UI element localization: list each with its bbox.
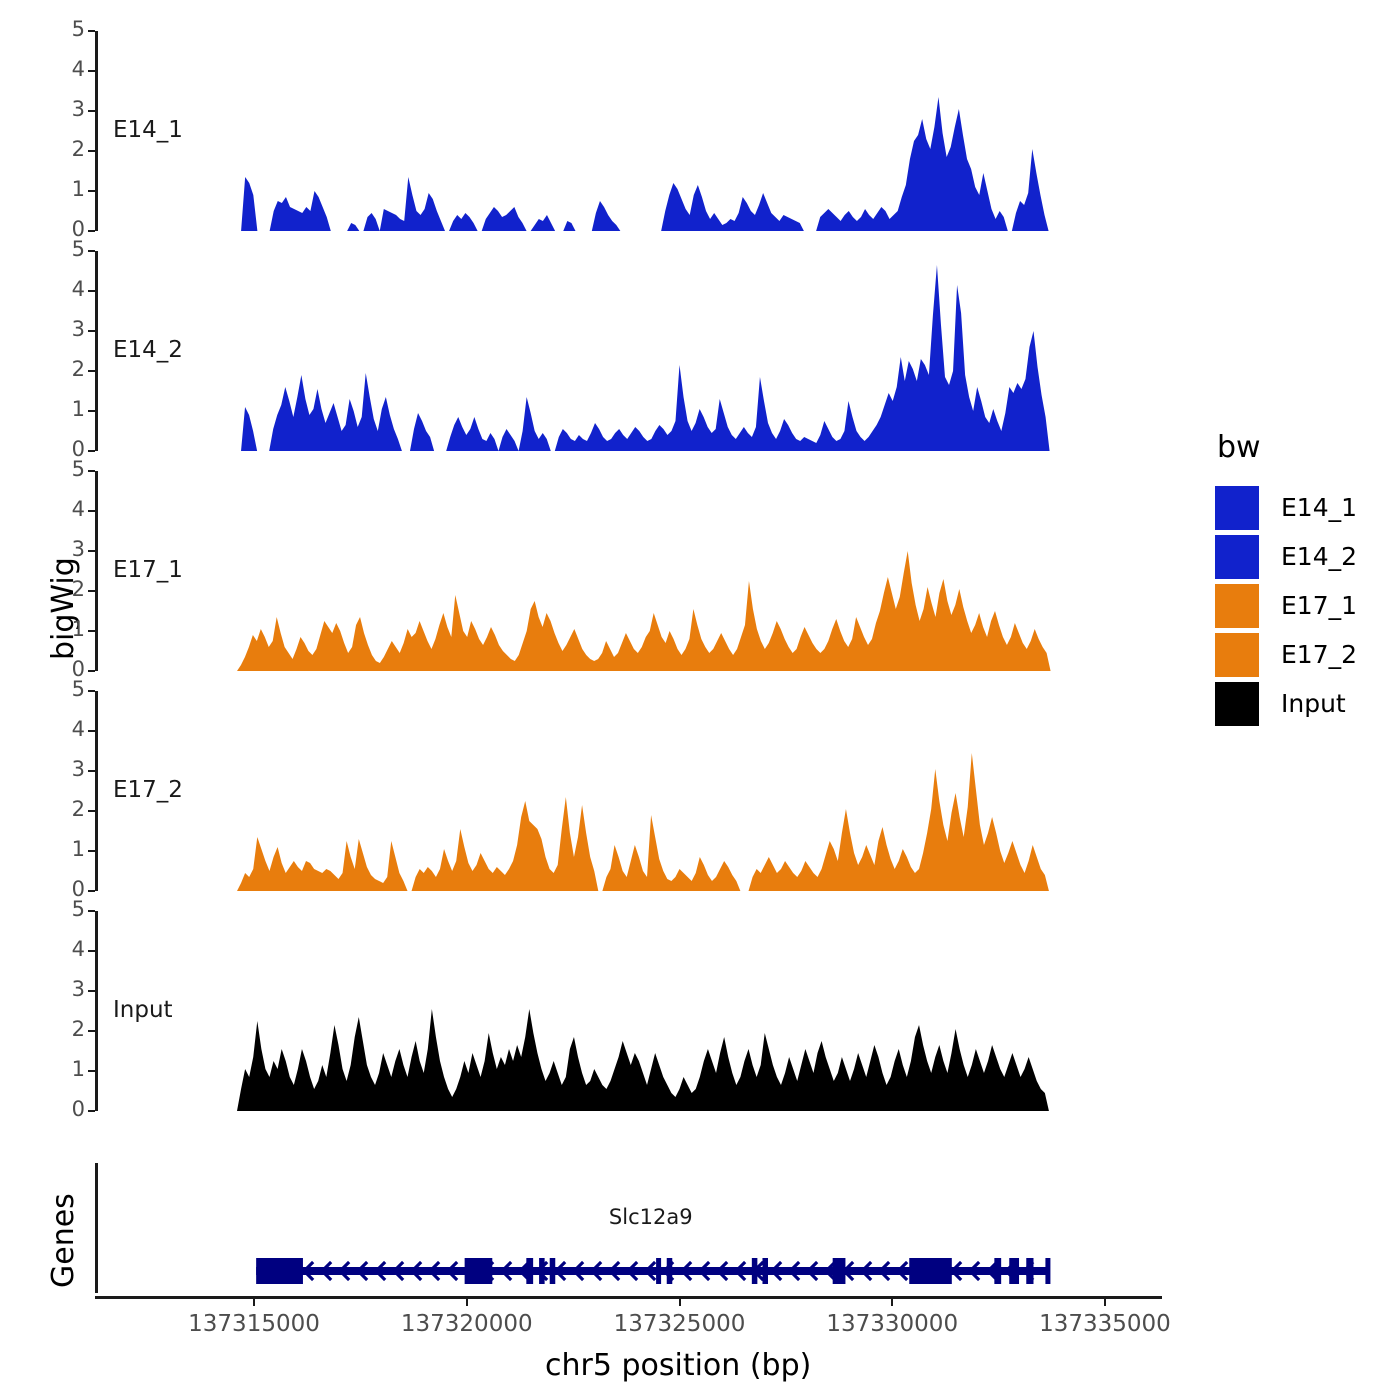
y-tick-label: 2 <box>43 1017 85 1041</box>
legend-swatch-e14_1 <box>1215 486 1259 530</box>
x-tick-mark <box>1104 1299 1106 1306</box>
y-tick-label: 3 <box>43 977 85 1001</box>
track-e14_1 <box>237 31 1124 233</box>
y-tick-mark <box>88 70 95 72</box>
legend-label: E14_1 <box>1281 493 1357 522</box>
legend-item-e17_2[interactable]: E17_2 <box>1215 630 1357 679</box>
y-tick-label: 5 <box>43 897 85 921</box>
x-axis-title: chr5 position (bp) <box>545 1348 811 1383</box>
gene-model-slc12a9[interactable] <box>237 1251 1126 1291</box>
y-tick-mark <box>88 30 95 32</box>
y-tick-label: 4 <box>43 277 85 301</box>
y-axis-line <box>95 31 98 231</box>
x-tick-mark <box>679 1299 681 1306</box>
y-tick-label: 3 <box>43 537 85 561</box>
legend-swatch-e17_1 <box>1215 584 1259 628</box>
gene-name-label: Slc12a9 <box>609 1205 693 1229</box>
y-tick-mark <box>88 370 95 372</box>
y-tick-label: 5 <box>43 17 85 41</box>
panel-label-e14_2: E14_2 <box>113 337 183 363</box>
y-tick-label: 3 <box>43 317 85 341</box>
y-tick-mark <box>88 1110 95 1112</box>
y-tick-mark <box>88 250 95 252</box>
y-tick-mark <box>88 450 95 452</box>
y-tick-mark <box>88 810 95 812</box>
legend-label: E17_2 <box>1281 640 1357 669</box>
y-tick-mark <box>88 670 95 672</box>
x-tick-mark <box>891 1299 893 1306</box>
y-axis-title-bigwig: bigWig <box>46 557 81 660</box>
legend-item-input[interactable]: Input <box>1215 679 1357 728</box>
x-tick-label: 137325000 <box>580 1311 780 1337</box>
y-tick-label: 3 <box>43 97 85 121</box>
x-tick-label: 137315000 <box>154 1311 354 1337</box>
y-tick-label: 0 <box>43 1097 85 1121</box>
y-tick-label: 5 <box>43 457 85 481</box>
y-tick-label: 2 <box>43 357 85 381</box>
y-axis-line <box>95 251 98 451</box>
y-tick-label: 1 <box>43 617 85 641</box>
y-tick-label: 5 <box>43 237 85 261</box>
y-tick-label: 4 <box>43 937 85 961</box>
x-tick-label: 137330000 <box>792 1311 992 1337</box>
y-tick-label: 1 <box>43 397 85 421</box>
track-input <box>237 911 1124 1113</box>
y-tick-mark <box>88 1030 95 1032</box>
legend-label: E14_2 <box>1281 542 1357 571</box>
y-tick-label: 3 <box>43 757 85 781</box>
legend-swatch-e14_2 <box>1215 535 1259 579</box>
y-tick-mark <box>88 890 95 892</box>
y-tick-label: 4 <box>43 497 85 521</box>
y-tick-label: 1 <box>43 177 85 201</box>
y-axis-line <box>95 911 98 1111</box>
y-tick-label: 4 <box>43 717 85 741</box>
y-tick-mark <box>88 410 95 412</box>
y-tick-label: 4 <box>43 57 85 81</box>
panel-label-e14_1: E14_1 <box>113 117 183 143</box>
y-tick-mark <box>88 150 95 152</box>
legend-items: E14_1E14_2E17_1E17_2Input <box>1215 483 1357 728</box>
y-tick-mark <box>88 770 95 772</box>
y-tick-mark <box>88 470 95 472</box>
y-axis-line <box>95 471 98 671</box>
panel-label-e17_2: E17_2 <box>113 777 183 803</box>
y-tick-mark <box>88 730 95 732</box>
y-tick-mark <box>88 850 95 852</box>
legend-label: Input <box>1281 689 1346 718</box>
panel-label-e17_1: E17_1 <box>113 557 183 583</box>
legend-title: bw <box>1217 430 1357 465</box>
y-tick-mark <box>88 510 95 512</box>
legend-item-e14_2[interactable]: E14_2 <box>1215 532 1357 581</box>
y-tick-mark <box>88 590 95 592</box>
legend-swatch-e17_2 <box>1215 633 1259 677</box>
x-tick-mark <box>466 1299 468 1306</box>
legend: bw E14_1E14_2E17_1E17_2Input <box>1215 430 1357 728</box>
legend-label: E17_1 <box>1281 591 1357 620</box>
y-tick-label: 2 <box>43 577 85 601</box>
y-tick-mark <box>88 630 95 632</box>
track-e17_2 <box>237 691 1124 893</box>
y-tick-label: 1 <box>43 837 85 861</box>
track-e14_2 <box>237 251 1124 453</box>
x-tick-mark <box>253 1299 255 1306</box>
y-tick-label: 5 <box>43 677 85 701</box>
y-tick-mark <box>88 950 95 952</box>
legend-swatch-input <box>1215 682 1259 726</box>
y-axis-line <box>95 691 98 891</box>
track-e17_1 <box>237 471 1124 673</box>
genes-axis-line <box>95 1163 98 1293</box>
y-tick-mark <box>88 1070 95 1072</box>
x-tick-label: 137335000 <box>1005 1311 1205 1337</box>
y-tick-mark <box>88 330 95 332</box>
panel-label-input: Input <box>113 997 173 1023</box>
y-tick-mark <box>88 230 95 232</box>
y-tick-mark <box>88 110 95 112</box>
y-tick-mark <box>88 910 95 912</box>
y-tick-label: 1 <box>43 1057 85 1081</box>
y-axis-title-genes: Genes <box>46 1193 81 1288</box>
y-tick-mark <box>88 990 95 992</box>
x-tick-label: 137320000 <box>367 1311 567 1337</box>
legend-item-e14_1[interactable]: E14_1 <box>1215 483 1357 532</box>
y-tick-mark <box>88 690 95 692</box>
y-tick-label: 2 <box>43 137 85 161</box>
y-tick-label: 2 <box>43 797 85 821</box>
y-tick-mark <box>88 190 95 192</box>
y-tick-mark <box>88 550 95 552</box>
legend-item-e17_1[interactable]: E17_1 <box>1215 581 1357 630</box>
y-tick-mark <box>88 290 95 292</box>
x-axis-line <box>95 1296 1162 1299</box>
